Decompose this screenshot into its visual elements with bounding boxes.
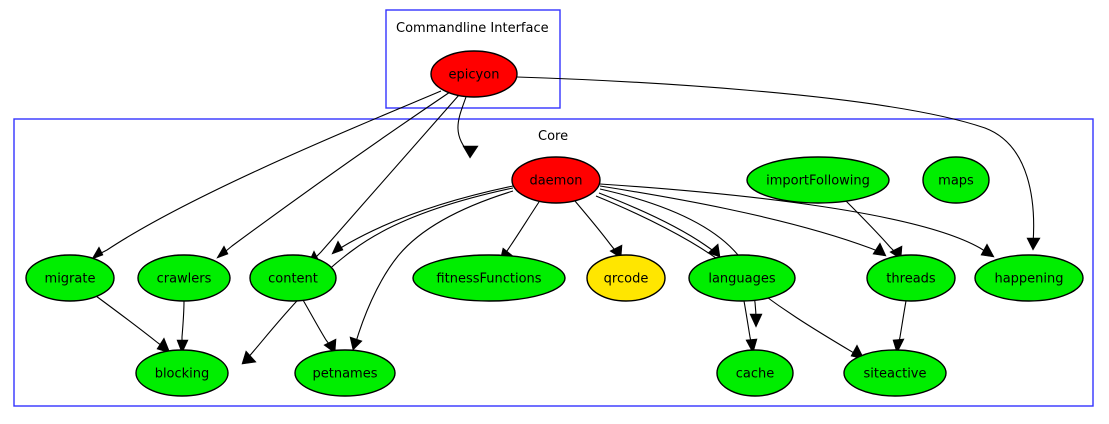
dependency-graph: Commandline InterfaceCore epicyondaemoni… bbox=[0, 0, 1109, 424]
edge-line bbox=[846, 201, 898, 255]
edge-line bbox=[96, 296, 166, 349]
arrowhead-icon bbox=[750, 314, 762, 327]
node-languages[interactable]: languages bbox=[689, 255, 795, 301]
node-label: importFollowing bbox=[766, 174, 870, 189]
edge-crawlers-to-blocking bbox=[177, 301, 188, 353]
edge-epicyon-to-crawlers bbox=[217, 92, 450, 258]
node-threads[interactable]: threads bbox=[867, 255, 955, 301]
node-label: qrcode bbox=[604, 272, 649, 287]
node-crawlers[interactable]: crawlers bbox=[138, 255, 230, 301]
node-maps[interactable]: maps bbox=[923, 157, 989, 203]
cluster-label: Core bbox=[538, 129, 568, 144]
edge-content-to-petnames bbox=[303, 300, 336, 353]
edge-importFollowing-to-threads bbox=[846, 201, 902, 259]
node-siteactive[interactable]: siteactive bbox=[844, 350, 946, 396]
node-importFollowing[interactable]: importFollowing bbox=[747, 157, 889, 203]
node-label: crawlers bbox=[157, 272, 212, 287]
node-happening[interactable]: happening bbox=[975, 255, 1083, 301]
edge-line bbox=[575, 201, 618, 254]
edge-languages-to-cache bbox=[744, 301, 757, 353]
node-label: petnames bbox=[313, 367, 378, 382]
edge-line bbox=[221, 92, 450, 255]
edge-daemon-to-fitnessFunctions bbox=[500, 202, 539, 261]
node-label: content bbox=[268, 272, 318, 287]
graph-canvas-root: Commandline InterfaceCore epicyondaemoni… bbox=[0, 0, 1109, 424]
arrowhead-icon bbox=[332, 241, 343, 254]
edge-line bbox=[312, 95, 459, 261]
node-label: daemon bbox=[529, 174, 582, 189]
edge-line bbox=[599, 193, 716, 253]
node-label: maps bbox=[938, 174, 974, 189]
node-label: happening bbox=[994, 272, 1063, 287]
edge-migrate-to-blocking bbox=[96, 296, 170, 353]
node-label: threads bbox=[886, 272, 936, 287]
edge-line bbox=[303, 300, 332, 348]
node-qrcode[interactable]: qrcode bbox=[587, 255, 665, 301]
node-label: languages bbox=[708, 272, 776, 287]
node-label: siteactive bbox=[864, 367, 927, 382]
node-label: fitnessFunctions bbox=[436, 272, 541, 287]
node-label: migrate bbox=[45, 272, 96, 287]
node-content[interactable]: content bbox=[250, 255, 336, 301]
edge-daemon-to-content bbox=[332, 186, 513, 254]
arrowhead-icon bbox=[1027, 238, 1040, 250]
arrowhead-icon bbox=[92, 247, 103, 259]
arrowhead-icon bbox=[981, 244, 994, 257]
edge-threads-to-siteactive bbox=[893, 301, 906, 353]
edge-line bbox=[503, 202, 539, 257]
arrowhead-icon bbox=[217, 246, 228, 258]
edges-layer bbox=[92, 77, 1040, 364]
edge-daemon-to-qrcode bbox=[575, 201, 622, 258]
node-petnames[interactable]: petnames bbox=[295, 350, 395, 396]
node-epicyon[interactable]: epicyon bbox=[431, 51, 517, 97]
node-label: cache bbox=[736, 367, 775, 382]
node-blocking[interactable]: blocking bbox=[136, 350, 228, 396]
node-daemon[interactable]: daemon bbox=[512, 157, 600, 203]
node-fitnessFunctions[interactable]: fitnessFunctions bbox=[413, 255, 565, 301]
edge-epicyon-to-daemon bbox=[458, 97, 478, 158]
node-migrate[interactable]: migrate bbox=[26, 255, 114, 301]
node-label: epicyon bbox=[449, 68, 500, 83]
arrowhead-icon bbox=[708, 244, 720, 257]
edge-line bbox=[336, 186, 513, 251]
cluster-label: Commandline Interface bbox=[396, 21, 549, 36]
arrowhead-icon bbox=[463, 146, 478, 158]
edge-epicyon-to-content bbox=[308, 95, 459, 264]
clusters-layer: Commandline InterfaceCore bbox=[14, 10, 1093, 406]
arrowhead-icon bbox=[350, 337, 362, 350]
arrowhead-icon bbox=[242, 351, 256, 364]
node-cache[interactable]: cache bbox=[717, 350, 793, 396]
node-label: blocking bbox=[155, 367, 210, 382]
